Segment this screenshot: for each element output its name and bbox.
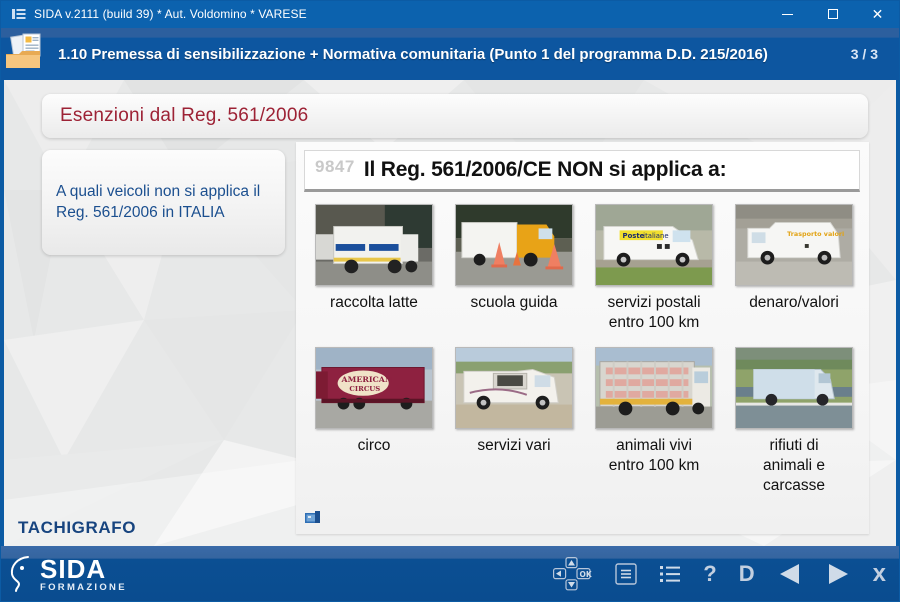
next-slide-button[interactable] [825,562,851,586]
grid-item: animali vivi entro 100 km [584,347,724,522]
grid-item: scuola guida [444,204,584,347]
poste-italiane-van-photo: Poste italiane [595,204,713,286]
grid-item-caption: circo [308,436,440,456]
section-title: Esenzioni dal Reg. 561/2006 [60,105,308,127]
content-card: 9847 Il Reg. 561/2006/CE NON si applica … [296,142,869,534]
cash-in-transit-van-photo: Trasporto valori [735,204,853,286]
maximize-icon [828,9,838,19]
grid-item-caption: servizi postali entro 100 km [588,293,720,333]
svg-text:AMERICAN: AMERICAN [341,375,393,384]
page-indicator: 3 / 3 [851,46,878,62]
window-title: SIDA v.2111 (build 39) * Aut. Voldomino … [34,7,307,21]
window-title-bar: SIDA v.2111 (build 39) * Aut. Voldomino … [0,0,900,28]
service-van-photo [455,347,573,429]
face-profile-icon [8,554,34,594]
grid-item: Poste italiane servizi postali entro 100… [584,204,724,347]
footer-bar: TACHIGRAFO SIDA FORMAZIONE [0,546,900,602]
card-heading: Il Reg. 561/2006/CE NON si applica a: [364,158,727,182]
brand-name: SIDA [40,556,127,582]
tachigrafo-watermark: TACHIGRAFO [18,518,136,538]
grid-item: servizi vari [444,347,584,522]
side-note-text: A quali veicoli non si applica il Reg. 5… [56,182,277,223]
driving-school-truck-cones-photo [455,204,573,286]
minimize-icon [782,14,793,15]
folder-documents-icon [2,28,54,80]
white-box-van-highway-photo [735,347,853,429]
close-button[interactable]: ✕ [855,0,900,28]
app-icon [8,0,30,28]
lesson-title: 1.10 Premessa di sensibilizzazione + Nor… [58,46,768,63]
application-window: SIDA v.2111 (build 39) * Aut. Voldomino … [0,0,900,602]
livestock-truck-photo [595,347,713,429]
svg-text:Poste: Poste [623,232,645,240]
grid-item: raccolta latte [304,204,444,347]
box-truck-milk-photo [315,204,433,286]
previous-slide-button[interactable] [777,562,803,586]
section-title-panel: Esenzioni dal Reg. 561/2006 [42,94,868,138]
svg-text:italiane: italiane [643,232,668,240]
card-ref-number: 9847 [315,157,355,177]
window-controls: ✕ [765,0,900,28]
grid-item-caption: animali vivi entro 100 km [588,436,720,476]
grid-item-caption: servizi vari [448,436,580,456]
maximize-button[interactable] [810,0,855,28]
list-index-button[interactable] [659,564,681,584]
card-heading-bar: 9847 Il Reg. 561/2006/CE NON si applica … [304,150,860,192]
grid-item-caption: raccolta latte [308,293,440,313]
lesson-header-bar: 1.10 Premessa di sensibilizzazione + Nor… [0,28,900,80]
document-view-button[interactable] [615,563,637,585]
help-button[interactable]: ? [703,563,716,585]
sida-logo: SIDA FORMAZIONE [8,550,158,598]
svg-text:OK: OK [580,570,593,579]
grid-item-caption: scuola guida [448,293,580,313]
grid-item: AMERICAN CIRCUS circo [304,347,444,522]
grid-item: rifiuti di animali e carcasse [724,347,864,522]
side-note-panel: A quali veicoli non si applica il Reg. 5… [42,150,285,255]
brand-subtitle: FORMAZIONE [40,583,127,593]
svg-text:Trasporto valori: Trasporto valori [787,231,844,238]
blue-media-icon[interactable] [305,511,321,525]
close-lesson-button[interactable]: x [873,562,886,586]
dictionary-button[interactable]: D [739,563,755,585]
grid-item-caption: denaro/valori [728,293,860,313]
slide-stage: Esenzioni dal Reg. 561/2006 A quali veic… [4,80,896,546]
exemption-grid: raccolta latte [304,204,864,522]
dpad-ok-navigation-button[interactable]: OK [553,557,593,591]
american-circus-trailer-photo: AMERICAN CIRCUS [315,347,433,429]
svg-text:CIRCUS: CIRCUS [349,385,380,393]
grid-item-caption: rifiuti di animali e carcasse [728,436,860,496]
player-toolbar: OK [553,546,886,602]
minimize-button[interactable] [765,0,810,28]
grid-item: Trasporto valori denaro/valori [724,204,864,347]
